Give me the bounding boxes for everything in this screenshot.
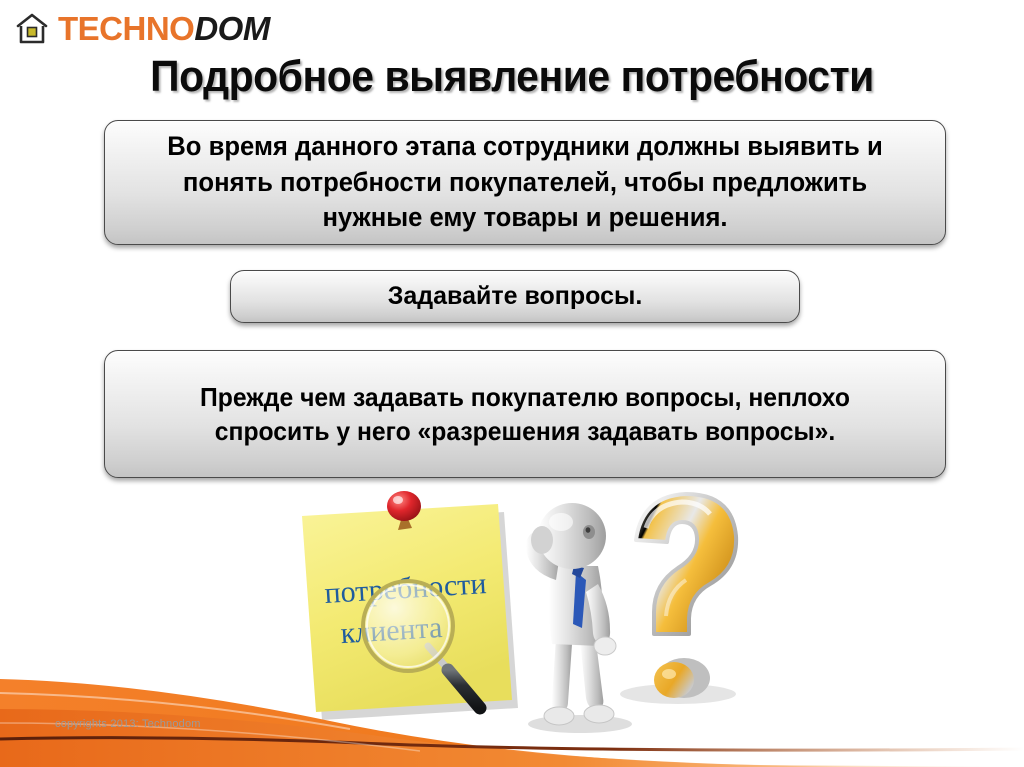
brand-name-secondary: DOM (194, 10, 270, 47)
callout-box-intro: Во время данного этапа сотрудники должны… (104, 120, 946, 245)
copyright-text: copyrights 2013: Technodom (55, 718, 201, 730)
slide-title: Подробное выявление потребности (36, 52, 988, 102)
brand-name-primary: TECHNO (58, 10, 194, 47)
brand-wordmark: TECHNODOM (58, 12, 270, 45)
callout-box-ask: Задавайте вопросы. (230, 270, 800, 323)
callout-text-permission: Прежде чем задавать покупателю вопросы, … (126, 380, 924, 449)
callout-text-intro: Во время данного этапа сотрудники должны… (126, 129, 924, 236)
callout-box-permission: Прежде чем задавать покупателю вопросы, … (104, 350, 946, 478)
house-icon (12, 8, 52, 48)
brand-logo: TECHNODOM (12, 4, 270, 52)
slide-canvas: TECHNODOM Подробное выявление потребност… (0, 0, 1024, 767)
callout-text-ask: Задавайте вопросы. (368, 280, 663, 313)
footer-swoosh (0, 657, 1024, 767)
